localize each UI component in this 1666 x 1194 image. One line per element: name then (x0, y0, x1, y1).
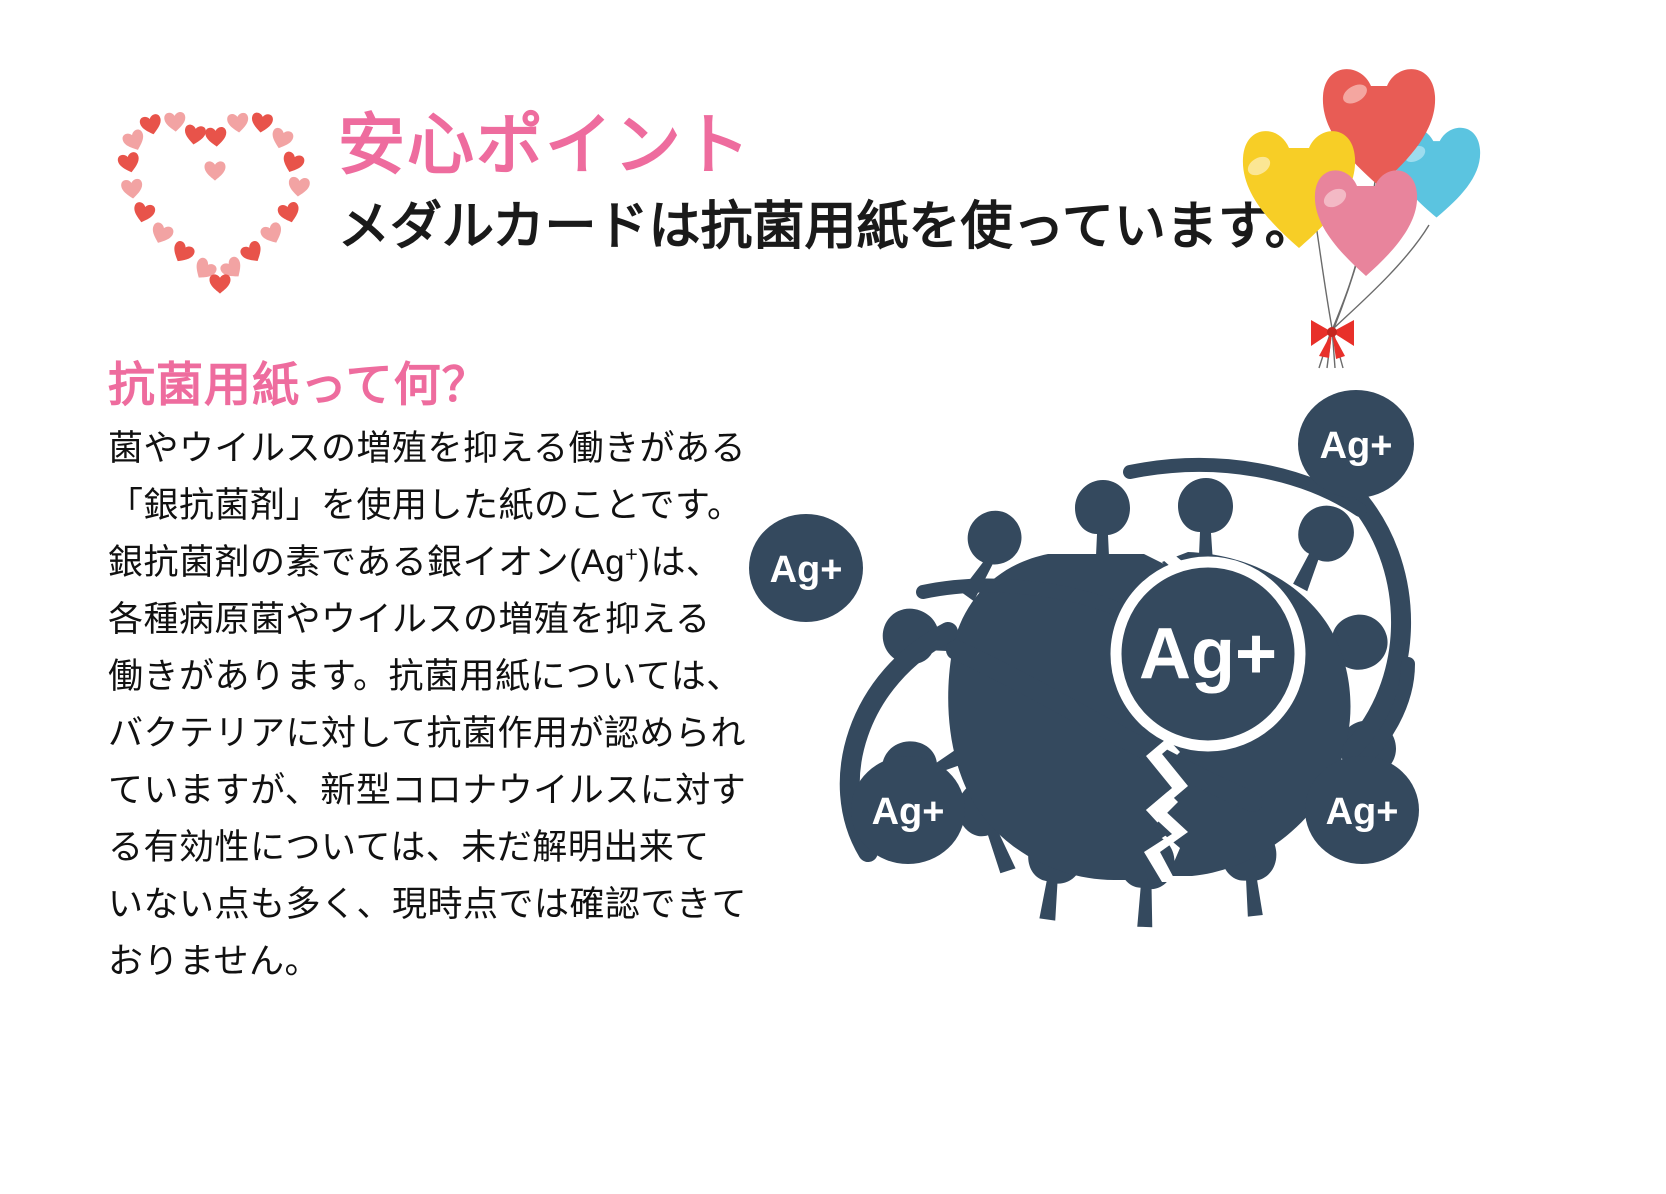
title-group: 安心ポイント メダルカードは抗菌用紙を使っています。 (338, 112, 1238, 253)
body-line: いない点も多く、現時点では確認できて (108, 876, 748, 933)
superscript-plus: + (625, 541, 638, 566)
page-subtitle: メダルカードは抗菌用紙を使っています。 (338, 201, 1238, 253)
ion-label: Ag+ (1326, 791, 1399, 833)
body-copy: 菌やウイルスの増殖を抑える働きがある 「銀抗菌剤」を使用した紙のことです。 銀抗… (108, 420, 748, 990)
silver-ion-bubble-bottom-right: Ag+ (1305, 756, 1419, 864)
body-line-part: )は、 (638, 543, 721, 582)
ion-label: Ag+ (770, 549, 843, 591)
hearts-heart-outline-icon (112, 100, 334, 300)
body-line: 菌やウイルスの増殖を抑える働きがある (108, 420, 748, 477)
body-line: おりません。 (108, 933, 748, 990)
body-line: 「銀抗菌剤」を使用した紙のことです。 (108, 477, 748, 534)
body-line: ていますが、新型コロナウイルスに対す (108, 762, 748, 819)
ion-label: Ag+ (872, 791, 945, 833)
cracked-virus-with-silver-ions-icon: Ag+ Ag+ Ag+ Ag+ Ag+ (748, 382, 1448, 942)
silver-ion-bubble-bottom-left: Ag+ (851, 756, 965, 864)
ion-label: Ag+ (1320, 425, 1393, 467)
section-heading: 抗菌用紙って何？ (108, 346, 490, 415)
body-line-with-superscript: 銀抗菌剤の素である銀イオン(Ag+)は、 (108, 534, 748, 591)
header-block: 安心ポイント メダルカードは抗菌用紙を使っています。 (0, 0, 1666, 330)
body-line: 各種病原菌やウイルスの増殖を抑える (108, 591, 748, 648)
body-line: る有効性については、未だ解明出来て (108, 819, 748, 876)
body-line: 働きがあります。抗菌用紙については、 (108, 648, 748, 705)
body-line-part: 銀抗菌剤の素である銀イオン(Ag (108, 543, 625, 582)
page-title: 安心ポイント (338, 112, 1238, 179)
silver-ion-bubble-left: Ag+ (749, 514, 863, 622)
center-ion-label: Ag+ (1139, 614, 1277, 694)
heart-balloons-icon (1215, 50, 1515, 370)
center-silver-ion: Ag+ (1116, 562, 1300, 746)
poster-canvas: 安心ポイント メダルカードは抗菌用紙を使っています。 (0, 0, 1666, 1194)
silver-ion-bubble-top-right: Ag+ (1298, 390, 1414, 498)
body-line: バクテリアに対して抗菌作用が認められ (108, 705, 748, 762)
